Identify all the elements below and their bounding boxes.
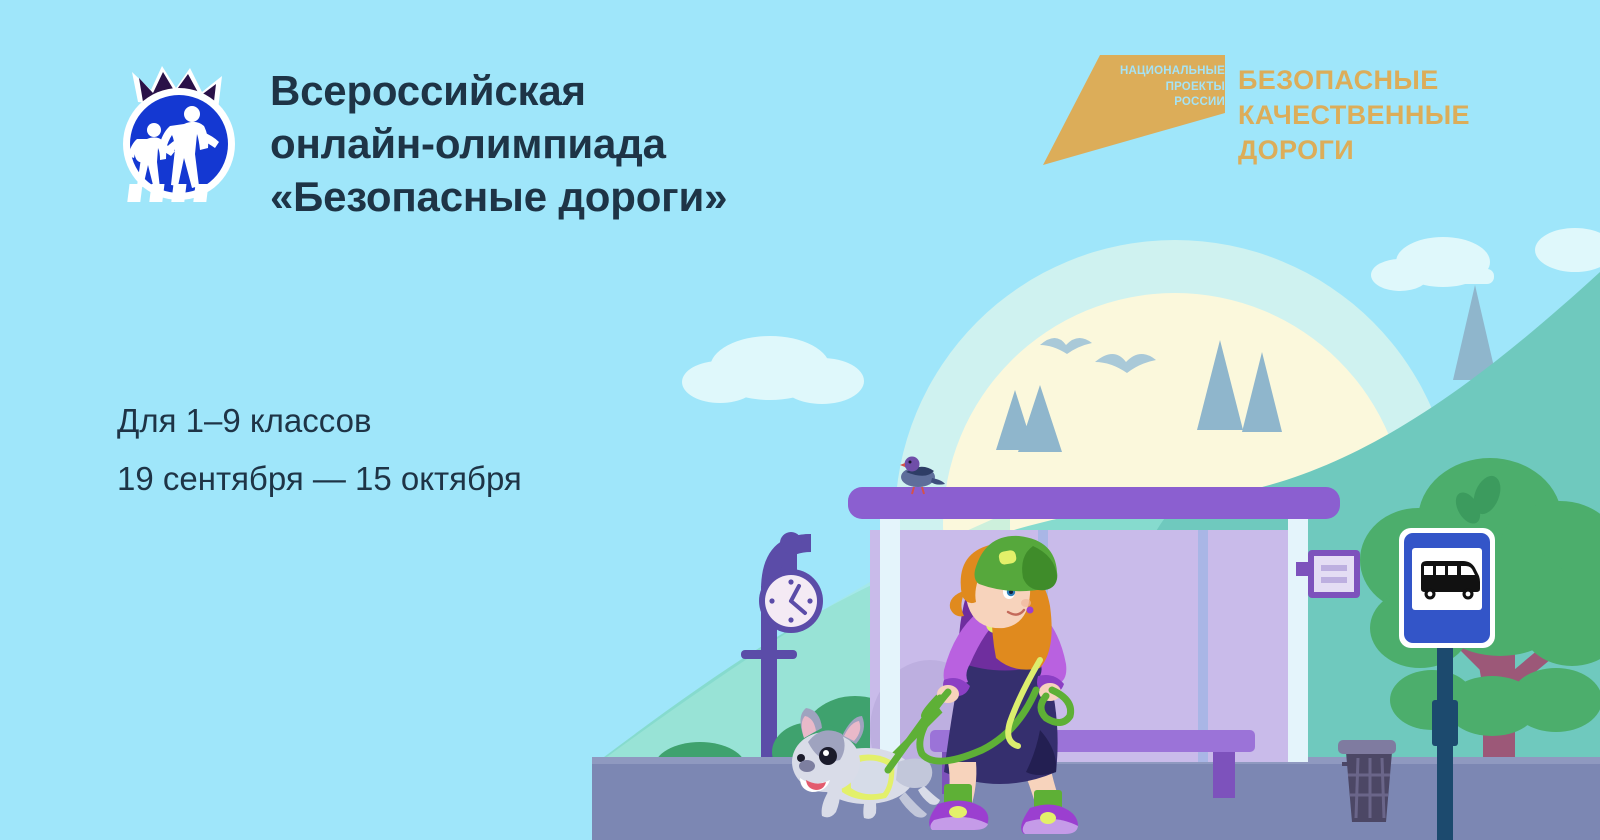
program-title: БЕЗОПАСНЫЕ КАЧЕСТВЕННЫЕ ДОРОГИ: [1238, 63, 1560, 168]
bench-leg-right: [1213, 752, 1235, 798]
shelter-roof: [848, 487, 1340, 519]
national-projects-flag-text: НАЦИОНАЛЬНЫЕ ПРОЕКТЫ РОССИИ: [1113, 64, 1225, 111]
shelter-post-left: [880, 500, 900, 762]
shelter-post-right: [1288, 500, 1308, 762]
page-title: Всероссийская онлайн-олимпиада «Безопасн…: [270, 62, 727, 223]
national-projects-logo: НАЦИОНАЛЬНЫЕ ПРОЕКТЫ РОССИИ БЕЗОПАСНЫЕ К…: [1040, 55, 1560, 170]
event-details: Для 1–9 классов 19 сентября — 15 октября: [117, 392, 522, 508]
header-logo-block: Всероссийская онлайн-олимпиада «Безопасн…: [118, 62, 858, 242]
olympiad-banner: Всероссийская онлайн-олимпиада «Безопасн…: [0, 0, 1600, 840]
pedestrian-crossing-sign-icon: [118, 66, 240, 202]
shelter-mullion-2: [1198, 530, 1208, 762]
